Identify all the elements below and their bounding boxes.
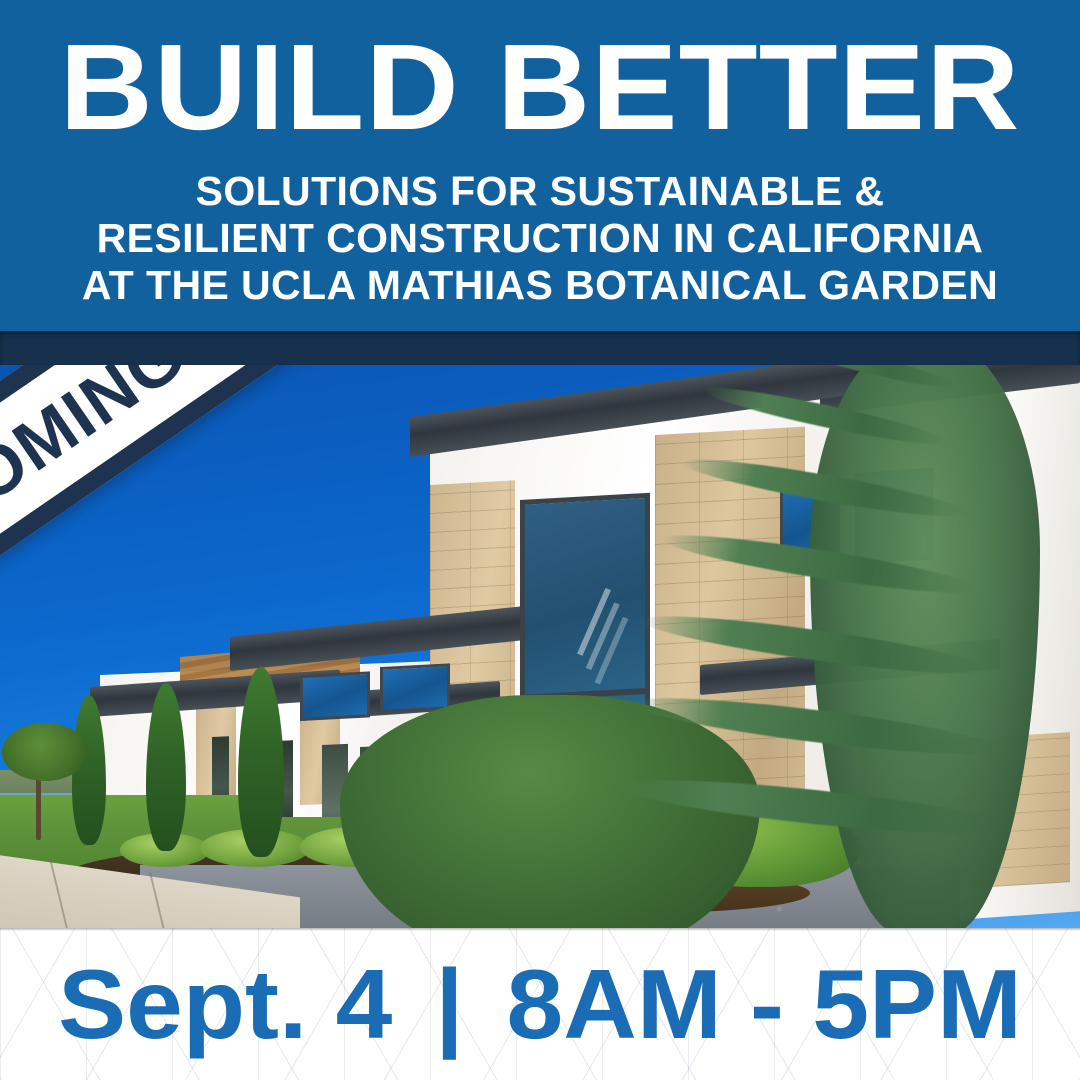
- subtitle-line-3: AT THE UCLA MATHIAS BOTANICAL GARDEN: [0, 262, 1080, 309]
- subtitle-line-2: RESILIENT CONSTRUCTION IN CALIFORNIA: [0, 215, 1080, 262]
- footer-date-bar: Sept. 4 | 8AM - 5PM: [0, 928, 1080, 1080]
- subtitle-line-1: SOLUTIONS FOR SUSTAINABLE &: [0, 168, 1080, 215]
- event-date: Sept. 4: [58, 949, 392, 1059]
- event-datetime: Sept. 4 | 8AM - 5PM: [0, 952, 1080, 1056]
- subtitle-block: SOLUTIONS FOR SUSTAINABLE & RESILIENT CO…: [0, 168, 1080, 309]
- walkway-joint: [149, 873, 173, 928]
- window: [300, 671, 370, 721]
- foreground-cedar-tree: [340, 695, 760, 928]
- page-title: BUILD BETTER: [0, 26, 1080, 148]
- window: [855, 468, 933, 565]
- event-poster: BUILD BETTER SOLUTIONS FOR SUSTAINABLE &…: [0, 0, 1080, 1080]
- navy-divider-bar: [0, 331, 1080, 365]
- building-photo: UPCOMING EVENT!: [0, 365, 1080, 928]
- window: [380, 663, 450, 713]
- tree-canopy: [2, 723, 88, 781]
- date-time-separator: |: [421, 949, 479, 1059]
- footer-top-shadow: [0, 928, 1080, 931]
- window: [780, 479, 840, 569]
- header-banner: BUILD BETTER SOLUTIONS FOR SUSTAINABLE &…: [0, 0, 1080, 331]
- walkway-joint: [49, 858, 73, 928]
- event-time: 8AM - 5PM: [507, 949, 1022, 1059]
